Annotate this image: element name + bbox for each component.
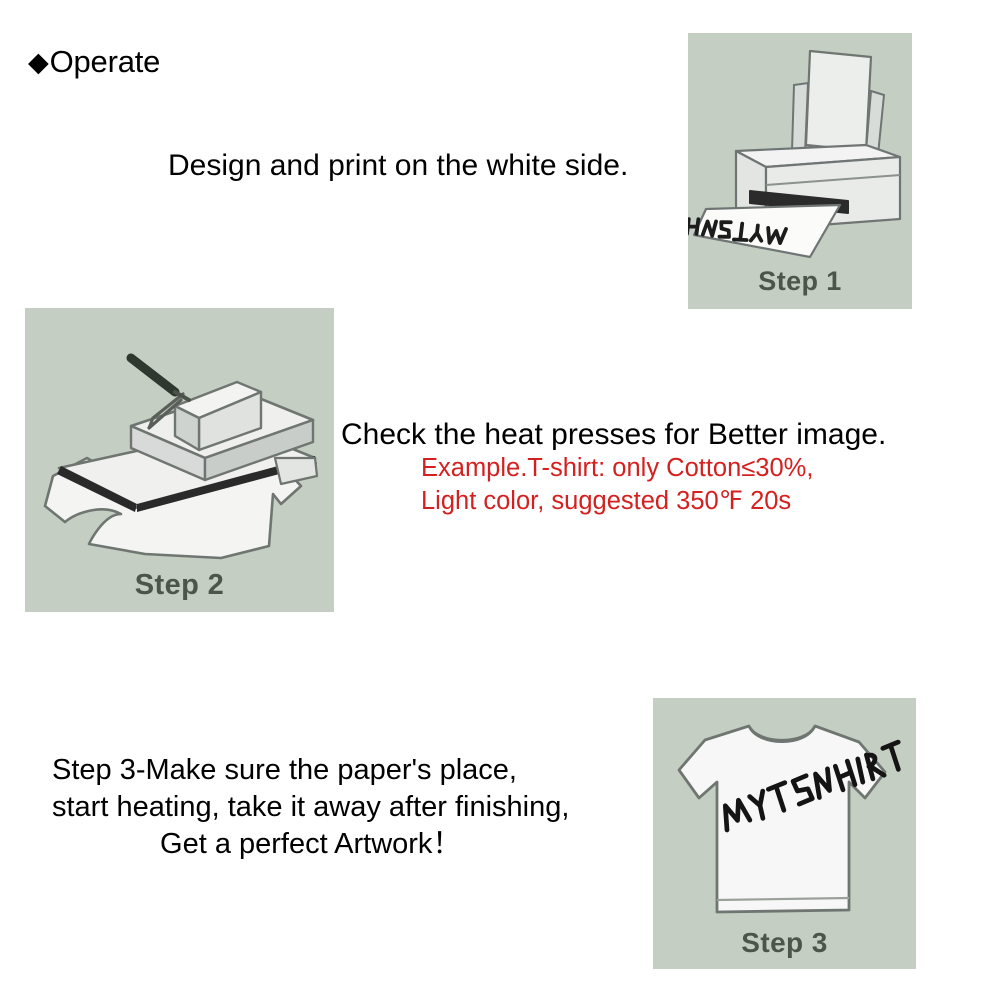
step2-note-line-1: Example.T-shirt: only Cotton≤30%, <box>421 452 813 485</box>
page-title: ◆Operate <box>28 44 160 80</box>
step1-instruction-text: Design and print on the white side. <box>168 149 628 184</box>
step3-illustration-panel: Step 3 <box>653 698 916 969</box>
heat-press-illustration <box>25 308 334 612</box>
page-title-text: Operate <box>50 44 161 79</box>
step1-caption: Step 1 <box>688 266 912 297</box>
step1-illustration-panel: Step 1 <box>688 33 912 309</box>
step3-caption: Step 3 <box>653 927 916 959</box>
step2-instruction-text: Check the heat presses for Better image. <box>341 418 886 453</box>
diamond-bullet-icon: ◆ <box>28 47 49 77</box>
step3-line-1: Step 3-Make sure the paper's place, <box>52 754 517 786</box>
step3-line-2: start heating, take it away after finish… <box>52 791 569 823</box>
step2-caption: Step 2 <box>25 569 334 602</box>
step2-illustration-panel: Step 2 <box>25 308 334 612</box>
step2-note-line-2: Light color, suggested 350℉ 20s <box>421 485 791 518</box>
step3-line-3: Get a perfect Artwork！ <box>52 826 569 863</box>
step3-instruction-text: Step 3-Make sure the paper's place, star… <box>52 752 569 862</box>
